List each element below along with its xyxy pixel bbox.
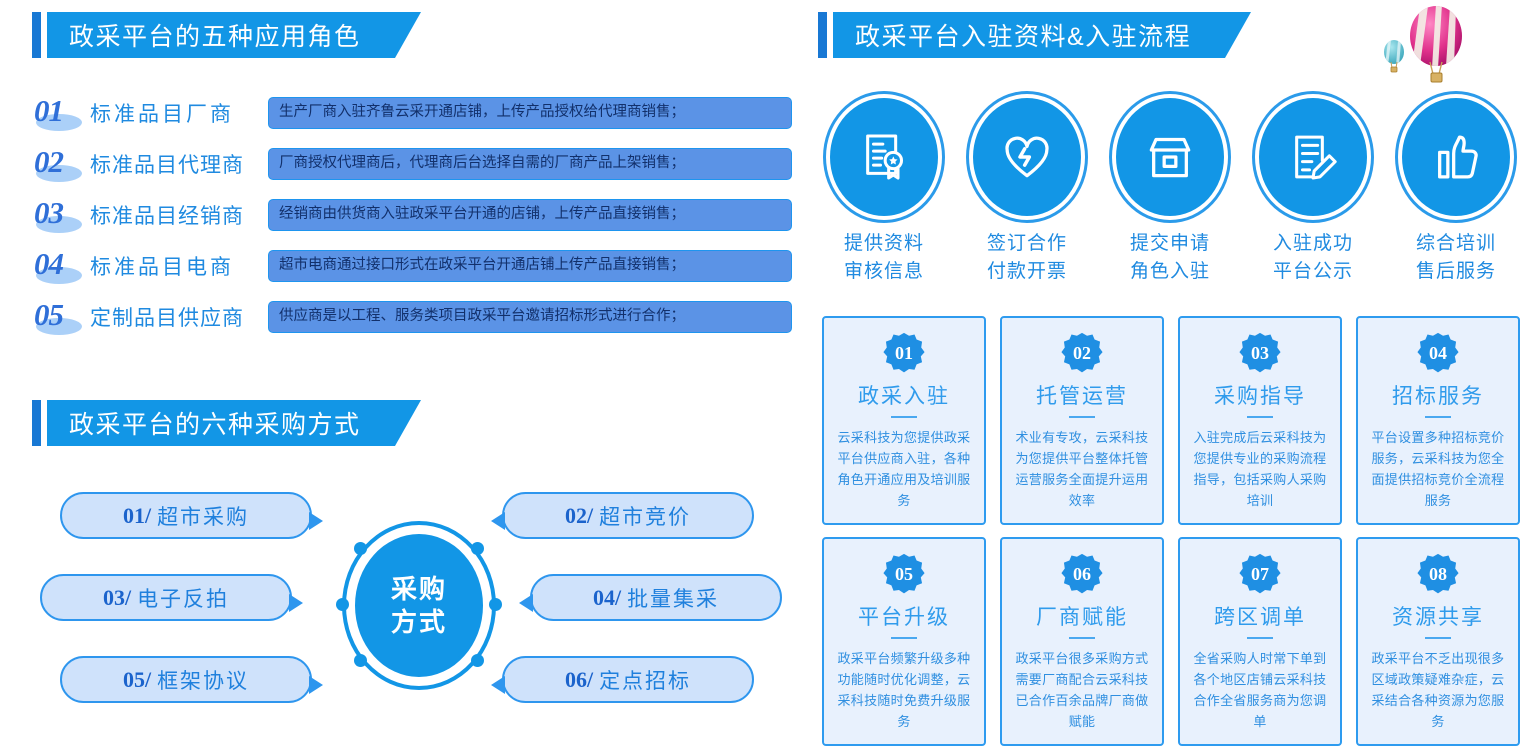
banner-accent-bar	[32, 12, 41, 58]
flow-label-line2: 付款开票	[963, 258, 1091, 286]
role-row[interactable]: 01 标准品目厂商 生产厂商入驻齐鲁云采开通店铺，上传产品授权给代理商销售；	[32, 92, 792, 134]
flow-step-5[interactable]: 综合培训 售后服务	[1392, 98, 1520, 285]
role-name: 标准品目代理商	[90, 149, 268, 179]
handshake-heart-icon	[999, 129, 1055, 185]
card-number: 02	[1061, 332, 1103, 374]
card-text: 云采科技为您提供政采平台供应商入驻，各种角色开通应用及培训服务	[832, 427, 976, 511]
card-text: 入驻完成后云采科技为您提供专业的采购流程指导，包括采购人采购培训	[1188, 427, 1332, 511]
method-number: 05/	[123, 667, 151, 693]
hub-label-line2: 方式	[391, 606, 447, 639]
role-row[interactable]: 02 标准品目代理商 厂商授权代理商后，代理商后台选择自需的厂商产品上架销售；	[32, 143, 792, 185]
service-card[interactable]: 05 平台升级 政采平台频繁升级多种功能随时优化调整，云采科技随时免费升级服务	[822, 537, 986, 746]
card-number-badge: 03	[1239, 332, 1281, 374]
service-card[interactable]: 01 政采入驻 云采科技为您提供政采平台供应商入驻，各种角色开通应用及培训服务	[822, 316, 986, 525]
flow-icon-circle	[1402, 98, 1510, 216]
card-title: 跨区调单	[1214, 601, 1306, 631]
service-card[interactable]: 07 跨区调单 全省采购人时常下单到各个地区店铺云采科技合作全省服务商为您调单	[1178, 537, 1342, 746]
card-divider	[891, 637, 917, 639]
role-number-badge: 05	[32, 296, 90, 338]
role-number: 04	[34, 246, 63, 282]
flow-label-line2: 角色入驻	[1106, 258, 1234, 286]
card-divider	[891, 416, 917, 418]
flow-icon-circle	[830, 98, 938, 216]
flow-label-line2: 售后服务	[1392, 258, 1520, 286]
pill-pointer	[289, 594, 303, 612]
hub-label-line1: 采购	[391, 573, 447, 606]
pill-pointer	[309, 676, 323, 694]
flow-label-line2: 审核信息	[820, 258, 948, 286]
role-row[interactable]: 05 定制品目供应商 供应商是以工程、服务类项目政采平台邀请招标形式进行合作；	[32, 296, 792, 338]
pill-pointer	[491, 512, 505, 530]
role-number-badge: 03	[32, 194, 90, 236]
method-pill-01[interactable]: 01/ 超市采购	[60, 492, 312, 539]
card-number: 01	[883, 332, 925, 374]
card-number-badge: 06	[1061, 553, 1103, 595]
service-cards-grid: 01 政采入驻 云采科技为您提供政采平台供应商入驻，各种角色开通应用及培训服务 …	[822, 316, 1522, 746]
method-label: 定点招标	[599, 665, 691, 695]
role-number-badge: 04	[32, 245, 90, 287]
flow-label: 提供资料 审核信息	[820, 230, 948, 285]
hot-air-balloon-decoration	[1380, 4, 1520, 88]
flow-label-line1: 提供资料	[820, 230, 948, 258]
roles-section-title: 政采平台的五种应用角色	[69, 17, 361, 53]
onboarding-section-banner: 政采平台入驻资料&入驻流程	[818, 12, 1225, 58]
card-number-badge: 07	[1239, 553, 1281, 595]
flow-label: 签订合作 付款开票	[963, 230, 1091, 285]
flow-icon-circle	[973, 98, 1081, 216]
flow-step-3[interactable]: 提交申请 角色入驻	[1106, 98, 1234, 285]
flow-label-line1: 签订合作	[963, 230, 1091, 258]
role-list: 01 标准品目厂商 生产厂商入驻齐鲁云采开通店铺，上传产品授权给代理商销售； 0…	[32, 92, 792, 347]
card-number-badge: 02	[1061, 332, 1103, 374]
roles-section-banner: 政采平台的五种应用角色	[32, 12, 395, 58]
role-description: 经销商由供货商入驻政采平台开通的店铺，上传产品直接销售；	[268, 199, 792, 230]
flow-icon-circle	[1116, 98, 1224, 216]
document-edit-icon	[1285, 129, 1341, 185]
card-title: 平台升级	[858, 601, 950, 631]
card-divider	[1069, 637, 1095, 639]
role-name: 标准品目厂商	[90, 98, 268, 128]
card-text: 政采平台很多采购方式需要厂商配合云采科技已合作百余品牌厂商做赋能	[1010, 648, 1154, 732]
card-number-badge: 04	[1417, 332, 1459, 374]
card-text: 术业有专攻，云采科技为您提供平台整体托管运营服务全面提升运用效率	[1010, 427, 1154, 511]
method-label: 超市竞价	[599, 501, 691, 531]
card-title: 厂商赋能	[1036, 601, 1128, 631]
card-divider	[1247, 416, 1273, 418]
service-card[interactable]: 04 招标服务 平台设置多种招标竞价服务，云采科技为您全面提供招标竞价全流程服务	[1356, 316, 1520, 525]
card-number: 08	[1417, 553, 1459, 595]
banner-plate: 政采平台入驻资料&入驻流程	[833, 12, 1225, 58]
card-title: 资源共享	[1392, 601, 1484, 631]
flow-label: 综合培训 售后服务	[1392, 230, 1520, 285]
role-number: 02	[34, 144, 63, 180]
hub-label: 采购 方式	[349, 528, 489, 683]
flow-label: 入驻成功 平台公示	[1249, 230, 1377, 285]
service-card[interactable]: 02 托管运营 术业有专攻，云采科技为您提供平台整体托管运营服务全面提升运用效率	[1000, 316, 1164, 525]
service-card[interactable]: 08 资源共享 政采平台不乏出现很多区域政策疑难杂症，云采结合各种资源为您服务	[1356, 537, 1520, 746]
card-title: 采购指导	[1214, 380, 1306, 410]
card-divider	[1425, 416, 1451, 418]
method-label: 批量集采	[627, 583, 719, 613]
role-number-badge: 02	[32, 143, 90, 185]
method-label: 框架协议	[157, 665, 249, 695]
flow-step-4[interactable]: 入驻成功 平台公示	[1249, 98, 1377, 285]
role-number: 03	[34, 195, 63, 231]
method-label: 超市采购	[157, 501, 249, 531]
flow-label-line1: 综合培训	[1392, 230, 1520, 258]
method-pill-03[interactable]: 03/ 电子反拍	[40, 574, 292, 621]
card-text: 政采平台不乏出现很多区域政策疑难杂症，云采结合各种资源为您服务	[1366, 648, 1510, 732]
role-row[interactable]: 04 标准品目电商 超市电商通过接口形式在政采平台开通店铺上传产品直接销售；	[32, 245, 792, 287]
card-number-badge: 05	[883, 553, 925, 595]
storefront-icon	[1142, 129, 1198, 185]
role-name: 定制品目供应商	[90, 302, 268, 332]
flow-icon-circle	[1259, 98, 1367, 216]
flow-label: 提交申请 角色入驻	[1106, 230, 1234, 285]
method-pill-05[interactable]: 05/ 框架协议	[60, 656, 312, 703]
card-number-badge: 01	[883, 332, 925, 374]
role-name: 标准品目电商	[90, 251, 268, 281]
methods-section-banner: 政采平台的六种采购方式	[32, 400, 395, 446]
flow-step-1[interactable]: 提供资料 审核信息	[820, 98, 948, 285]
thumbs-up-icon	[1428, 129, 1484, 185]
method-pill-04[interactable]: 04/ 批量集采	[530, 574, 782, 621]
onboarding-flow: 提供资料 审核信息 签订合作 付款开票	[820, 98, 1520, 285]
card-text: 全省采购人时常下单到各个地区店铺云采科技合作全省服务商为您调单	[1188, 648, 1332, 732]
methods-section-title: 政采平台的六种采购方式	[69, 405, 361, 441]
card-divider	[1069, 416, 1095, 418]
role-number-badge: 01	[32, 92, 90, 134]
method-number: 02/	[565, 503, 593, 529]
method-label: 电子反拍	[137, 583, 229, 613]
procurement-methods-wheel: 01/ 超市采购 02/ 超市竞价 03/ 电子反拍 04/ 批量集采 05/ …	[32, 480, 792, 730]
card-text: 政采平台频繁升级多种功能随时优化调整，云采科技随时免费升级服务	[832, 648, 976, 732]
role-number: 01	[34, 93, 63, 129]
pill-pointer	[309, 512, 323, 530]
flow-label-line1: 入驻成功	[1249, 230, 1377, 258]
role-row[interactable]: 03 标准品目经销商 经销商由供货商入驻政采平台开通的店铺，上传产品直接销售；	[32, 194, 792, 236]
banner-plate: 政采平台的五种应用角色	[47, 12, 395, 58]
card-divider	[1247, 637, 1273, 639]
flow-label-line2: 平台公示	[1249, 258, 1377, 286]
role-description: 超市电商通过接口形式在政采平台开通店铺上传产品直接销售；	[268, 250, 792, 281]
card-number: 05	[883, 553, 925, 595]
card-number: 04	[1417, 332, 1459, 374]
role-number: 05	[34, 297, 63, 333]
method-number: 06/	[565, 667, 593, 693]
card-number: 07	[1239, 553, 1281, 595]
method-number: 04/	[593, 585, 621, 611]
wheel-hub: 采购 方式	[349, 528, 489, 683]
card-number: 06	[1061, 553, 1103, 595]
card-text: 平台设置多种招标竞价服务，云采科技为您全面提供招标竞价全流程服务	[1366, 427, 1510, 511]
method-pill-06[interactable]: 06/ 定点招标	[502, 656, 754, 703]
role-name: 标准品目经销商	[90, 200, 268, 230]
pill-pointer	[491, 676, 505, 694]
flow-items: 提供资料 审核信息 签订合作 付款开票	[820, 98, 1520, 285]
role-description: 生产厂商入驻齐鲁云采开通店铺，上传产品授权给代理商销售；	[268, 97, 792, 128]
card-number-badge: 08	[1417, 553, 1459, 595]
banner-accent-bar	[818, 12, 827, 58]
pill-pointer	[519, 594, 533, 612]
hub-dot	[336, 598, 349, 611]
card-title: 托管运营	[1036, 380, 1128, 410]
method-pill-02[interactable]: 02/ 超市竞价	[502, 492, 754, 539]
method-number: 01/	[123, 503, 151, 529]
hub-dot	[489, 598, 502, 611]
balloon-illustration	[1380, 4, 1520, 88]
flow-step-2[interactable]: 签订合作 付款开票	[963, 98, 1091, 285]
onboarding-section-title: 政采平台入驻资料&入驻流程	[855, 17, 1191, 53]
service-card[interactable]: 06 厂商赋能 政采平台很多采购方式需要厂商配合云采科技已合作百余品牌厂商做赋能	[1000, 537, 1164, 746]
card-title: 政采入驻	[858, 380, 950, 410]
infographic-page: 政采平台的五种应用角色 01 标准品目厂商 生产厂商入驻齐鲁云采开通店铺，上传产…	[0, 0, 1529, 752]
banner-accent-bar	[32, 400, 41, 446]
card-number: 03	[1239, 332, 1281, 374]
role-description: 厂商授权代理商后，代理商后台选择自需的厂商产品上架销售；	[268, 148, 792, 179]
role-description: 供应商是以工程、服务类项目政采平台邀请招标形式进行合作；	[268, 301, 792, 332]
service-card[interactable]: 03 采购指导 入驻完成后云采科技为您提供专业的采购流程指导，包括采购人采购培训	[1178, 316, 1342, 525]
card-divider	[1425, 637, 1451, 639]
flow-label-line1: 提交申请	[1106, 230, 1234, 258]
method-number: 03/	[103, 585, 131, 611]
banner-plate: 政采平台的六种采购方式	[47, 400, 395, 446]
certificate-icon	[856, 129, 912, 185]
card-title: 招标服务	[1392, 380, 1484, 410]
